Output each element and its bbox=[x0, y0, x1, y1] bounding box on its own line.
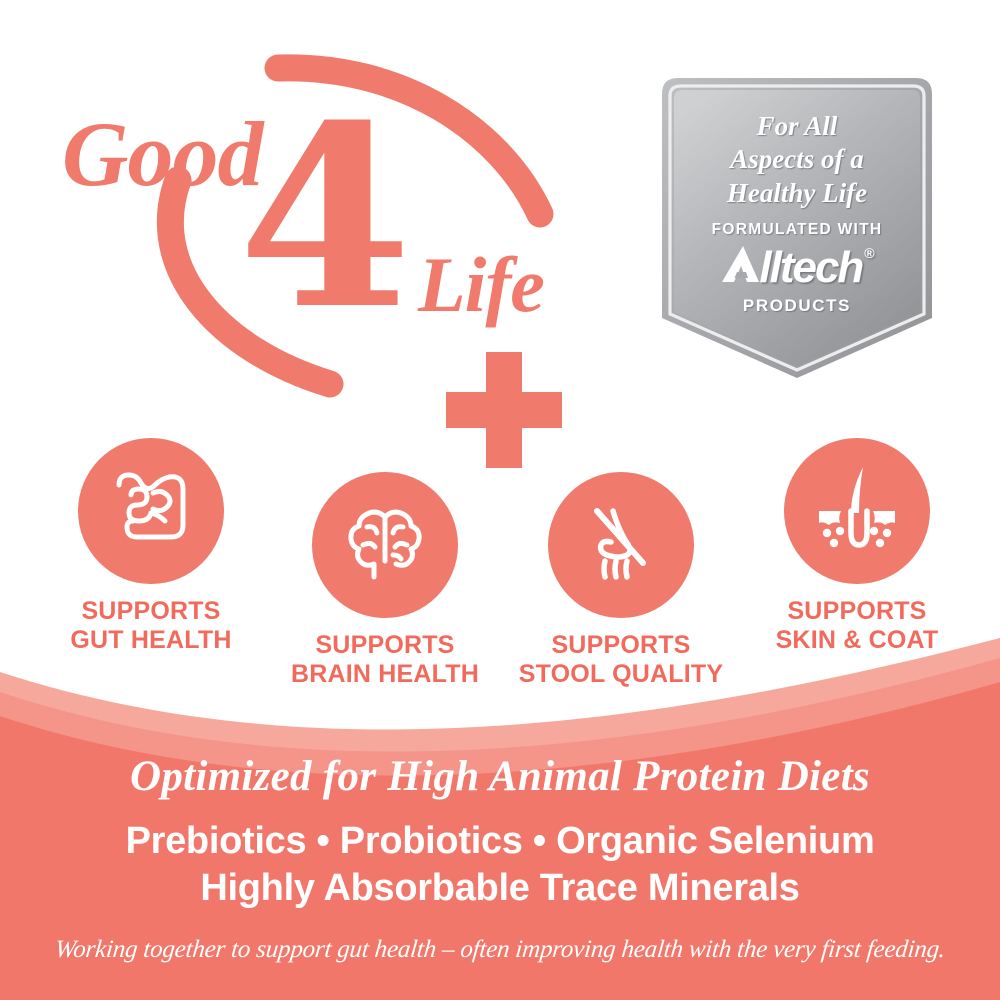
banner-minerals-line: Highly Absorbable Trace Minerals bbox=[200, 867, 799, 910]
medical-cross-icon bbox=[446, 352, 562, 468]
alltech-wordmark-text: lltech bbox=[759, 243, 862, 293]
shield-tagline-line-1: For All bbox=[757, 110, 838, 143]
marketing-graphic: Good 4 Life bbox=[0, 0, 1000, 1000]
bottom-banner: Optimized for High Animal Protein Diets … bbox=[0, 620, 1000, 1000]
alltech-logo: lltech ® bbox=[721, 243, 872, 293]
hair-follicle-icon bbox=[807, 461, 907, 561]
no-diarrhea-icon bbox=[573, 497, 669, 593]
good-4-life-logo: Good 4 Life bbox=[0, 0, 640, 440]
benefit-circle bbox=[78, 438, 224, 584]
benefit-circle bbox=[548, 472, 694, 618]
benefit-circle bbox=[312, 472, 458, 618]
banner-ingredients-line: Prebiotics • Probiotics • Organic Seleni… bbox=[126, 820, 875, 863]
alltech-shield-badge: For All Aspects of a Healthy Life FORMUL… bbox=[652, 72, 942, 384]
intestine-icon bbox=[103, 463, 199, 559]
shield-tagline-line-2: Aspects of a bbox=[730, 143, 863, 176]
shield-tagline-line-3: Healthy Life bbox=[727, 177, 867, 210]
formulated-with-label: FORMULATED WITH bbox=[712, 221, 883, 239]
banner-script-tagline: Working together to support gut health –… bbox=[53, 936, 946, 964]
logo-word-good: Good bbox=[62, 108, 262, 200]
shield-content: For All Aspects of a Healthy Life FORMUL… bbox=[652, 72, 942, 384]
logo-numeral-4: 4 bbox=[238, 92, 406, 342]
brain-icon bbox=[337, 497, 433, 593]
registered-trademark-icon: ® bbox=[864, 245, 874, 261]
banner-headline: Optimized for High Animal Protein Diets bbox=[130, 752, 870, 801]
banner-text-block: Optimized for High Animal Protein Diets … bbox=[0, 620, 1000, 1000]
products-label: PRODUCTS bbox=[743, 296, 851, 316]
alltech-a-mark-icon bbox=[721, 244, 761, 284]
logo-word-life: Life bbox=[418, 246, 544, 324]
benefit-circle bbox=[784, 438, 930, 584]
